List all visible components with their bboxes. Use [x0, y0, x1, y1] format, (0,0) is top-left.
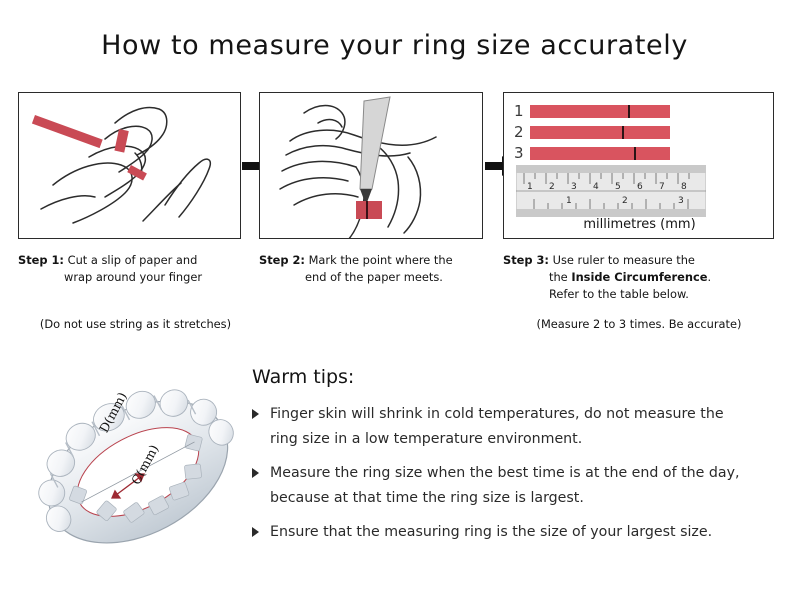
strip-number-2: 2	[514, 125, 530, 140]
steps-row: 1 2 3	[0, 92, 789, 242]
svg-text:5: 5	[615, 182, 621, 192]
step-2-caption: Step 2: Mark the point where the end of …	[259, 252, 487, 286]
step-1-line-1: Cut a slip of paper and	[68, 253, 198, 267]
step-2-lead: Step 2:	[259, 253, 305, 267]
svg-text:3: 3	[678, 196, 684, 206]
svg-text:4: 4	[593, 182, 599, 192]
step-3-line-2-prefix: the	[549, 270, 571, 284]
step-3-caption: Step 3: Use ruler to measure the the Ins…	[503, 252, 775, 303]
step-3-line-3: Refer to the table below.	[503, 286, 775, 303]
strip-number-3: 3	[514, 146, 530, 161]
step-3-line-2: the Inside Circumference.	[503, 269, 775, 286]
warm-tip-item: Finger skin will shrink in cold temperat…	[252, 402, 752, 452]
warm-tips-block: Warm tips: Finger skin will shrink in co…	[252, 366, 752, 554]
svg-text:3: 3	[571, 182, 577, 192]
step-2-line-1: Mark the point where the	[309, 253, 453, 267]
step-3-illustration-panel: 1 2 3	[503, 92, 774, 239]
warm-tip-item: Ensure that the measuring ring is the si…	[252, 520, 752, 545]
strip-mark-3	[634, 147, 636, 160]
warm-tip-text: Measure the ring size when the best time…	[270, 465, 740, 506]
step-3-line-1: Use ruler to measure the	[553, 253, 695, 267]
step-3-note: (Measure 2 to 3 times. Be accurate)	[503, 317, 775, 331]
svg-text:1: 1	[527, 182, 533, 192]
measured-strip-row-1: 1	[514, 104, 670, 119]
svg-text:2: 2	[549, 182, 555, 192]
strip-mark-2	[622, 126, 624, 139]
step-1-caption: Step 1: Cut a slip of paper and wrap aro…	[18, 252, 246, 286]
svg-text:1: 1	[566, 196, 572, 206]
hand-marking-paper-icon	[260, 93, 483, 239]
step-1-lead: Step 1:	[18, 253, 64, 267]
paper-strip-3	[530, 147, 670, 160]
ruler-art: 1 2 3	[504, 93, 773, 238]
svg-text:6: 6	[637, 182, 643, 192]
strip-number-1: 1	[514, 104, 530, 119]
step-1-line-2: wrap around your finger	[18, 269, 246, 286]
warm-tip-item: Measure the ring size when the best time…	[252, 461, 752, 511]
step-3-lead: Step 3:	[503, 253, 549, 267]
step-1-note: (Do not use string as it stretches)	[28, 317, 243, 331]
step-3-inside-circumference-emphasis: Inside Circumference	[571, 270, 707, 284]
warm-tips-heading: Warm tips:	[252, 366, 752, 388]
paper-strip-1	[530, 105, 670, 118]
step-2-line-2: end of the paper meets.	[259, 269, 487, 286]
ruler-unit-label: millimetres (mm)	[504, 217, 774, 232]
svg-text:2: 2	[622, 196, 628, 206]
warm-tip-text: Finger skin will shrink in cold temperat…	[270, 406, 724, 447]
measured-strip-row-3: 3	[514, 146, 670, 161]
triangle-bullet-icon	[252, 527, 259, 537]
svg-text:7: 7	[659, 182, 665, 192]
step-2-illustration-panel	[259, 92, 483, 239]
strip-mark-1	[628, 105, 630, 118]
hand-with-paper-strip-icon	[19, 93, 241, 239]
svg-text:8: 8	[681, 182, 687, 192]
step-1-illustration-panel	[18, 92, 241, 239]
paper-strip-2	[530, 126, 670, 139]
triangle-bullet-icon	[252, 409, 259, 419]
triangle-bullet-icon	[252, 468, 259, 478]
ruler-icon: 123 456 78 123	[516, 165, 706, 217]
page-title: How to measure your ring size accurately	[0, 30, 789, 61]
step-3-line-2-suffix: .	[707, 270, 711, 284]
measured-strip-row-2: 2	[514, 125, 670, 140]
warm-tip-text: Ensure that the measuring ring is the si…	[270, 524, 712, 540]
